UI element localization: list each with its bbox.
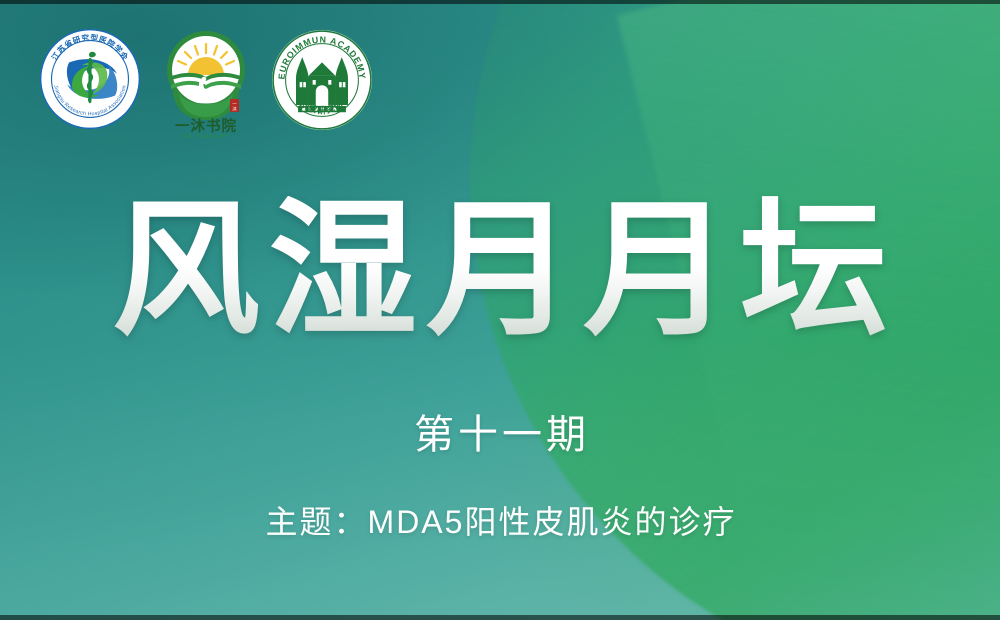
svg-text:沐: 沐 <box>232 106 237 113</box>
slide-topic-label: 主题：MDA5阳性皮肌炎的诊疗 <box>0 500 1000 544</box>
logo-jiangsu-research-hospital-association: 江苏省研究型医院学会 Jiangsu Research Hospital Ass… <box>38 27 142 131</box>
svg-text:一: 一 <box>232 101 237 106</box>
svg-text:一沐书院: 一沐书院 <box>175 117 237 135</box>
presentation-slide: 江苏省研究型医院学会 Jiangsu Research Hospital Ass… <box>0 0 1000 620</box>
svg-text:WE ACADEMY: WE ACADEMY <box>183 134 230 140</box>
slide-episode-label: 第十一期 <box>0 411 1000 459</box>
logo-euroimmun-academy: EUROIMMUN ACADEMY 欧蒙研究所 <box>270 28 374 132</box>
logo-we-academy: 一 沐 一沐书院 WE ACADEMY <box>156 29 256 141</box>
slide-main-title: 风湿月月坛 <box>0 196 1000 346</box>
sponsor-logo-row: 江苏省研究型医院学会 Jiangsu Research Hospital Ass… <box>38 27 374 141</box>
letterbox-bar-top <box>0 0 1000 4</box>
letterbox-bar-bottom <box>0 615 1000 620</box>
